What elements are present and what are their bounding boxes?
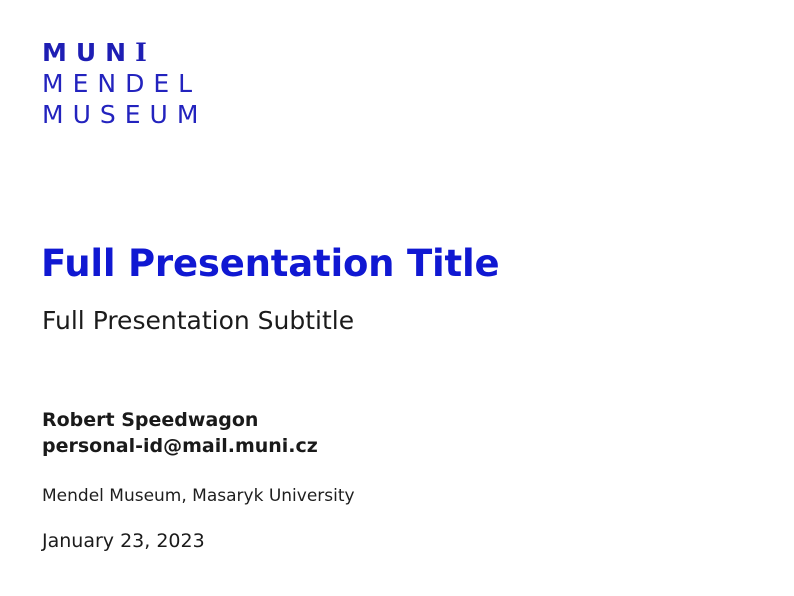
- logo-serif-i-glyph: I: [135, 38, 156, 67]
- logo-line-mendel: MENDEL: [42, 68, 207, 99]
- author-block: Robert Speedwagon personal-id@mail.muni.…: [42, 407, 318, 459]
- title-slide: MUNI MENDEL MUSEUM Full Presentation Tit…: [0, 0, 794, 596]
- logo-line-museum: MUSEUM: [42, 99, 207, 130]
- author-affiliation: Mendel Museum, Masaryk University: [42, 486, 355, 507]
- page-title: Full Presentation Title: [41, 243, 499, 286]
- author-email: personal-id@mail.muni.cz: [42, 433, 318, 459]
- logo-muni-text: MUN: [42, 38, 135, 67]
- author-name: Robert Speedwagon: [42, 407, 318, 433]
- muni-mendel-museum-logo: MUNI MENDEL MUSEUM: [42, 37, 207, 130]
- logo-line-muni: MUNI: [42, 37, 207, 68]
- page-subtitle: Full Presentation Subtitle: [42, 306, 354, 336]
- presentation-date: January 23, 2023: [42, 530, 205, 554]
